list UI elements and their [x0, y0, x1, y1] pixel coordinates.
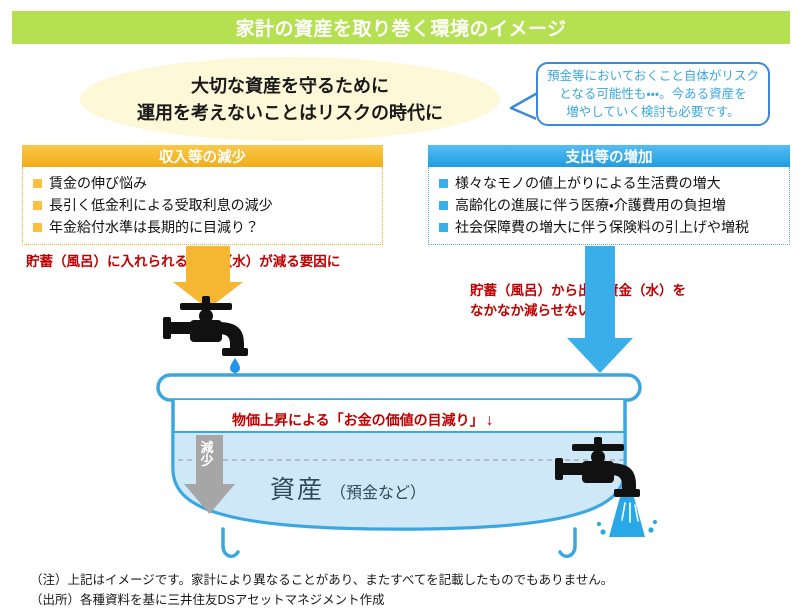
square-bullet-icon: [33, 201, 42, 210]
square-bullet-icon: [439, 223, 448, 232]
square-bullet-icon: [439, 201, 448, 210]
expense-increase-caption: 貯蓄（風呂）から出る資金（水）を なかなか減らせない: [470, 281, 686, 320]
expense-increase-list: 様々なモノの値上がりによる生活費の増大 高齢化の進展に伴う医療・介護費用の負担増…: [428, 167, 790, 245]
faucet-left-icon: [163, 296, 248, 356]
callout-line-2: となる可能性も・・・。今ある資産を: [559, 85, 746, 103]
expense-increase-caption-line-2: なかなか減らせない: [470, 301, 686, 321]
hero-line-2: 運用を考えないことはリスクの時代に: [137, 100, 443, 127]
footer-source: （出所）各種資料を基に三井住友DSアセットマネジメント作成: [30, 590, 613, 610]
list-item: 年金給付水準は長期的に目減り？: [23, 216, 382, 238]
hero-line-1: 大切な資産を守るために: [191, 73, 389, 100]
page-title-bar: 家計の資産を取り巻く環境のイメージ: [12, 11, 790, 44]
list-item-label: 長引く低金利による受取利息の減少: [49, 195, 273, 215]
water-stream-icon: [597, 497, 657, 537]
assets-label: 資産 （預金など）: [270, 470, 426, 506]
inflation-note: 物価上昇による「お金の価値の目減り」↓: [232, 410, 494, 430]
callout-line-3: 増やしていく検討も必要です。: [566, 103, 739, 121]
list-item: 社会保障費の増大に伴う保険料の引上げや増税: [429, 216, 789, 238]
list-item-label: 社会保障費の増大に伴う保険料の引上げや増税: [455, 217, 749, 237]
infographic-page: 家計の資産を取り巻く環境のイメージ 大切な資産を守るために 運用を考えないことは…: [0, 0, 805, 612]
expense-increase-heading-label: 支出等の増加: [566, 146, 653, 167]
list-item: 長引く低金利による受取利息の減少: [23, 194, 382, 216]
square-bullet-icon: [33, 223, 42, 232]
list-item-label: 様々なモノの値上がりによる生活費の増大: [455, 173, 721, 193]
page-title: 家計の資産を取り巻く環境のイメージ: [235, 14, 566, 41]
income-decrease-list: 賃金の伸び悩み 長引く低金利による受取利息の減少 年金給付水準は長期的に目減り？: [22, 167, 383, 245]
faucet-right-icon: [555, 437, 640, 497]
water-drop-icon: [230, 358, 240, 387]
income-decrease-heading-label: 収入等の減少: [159, 146, 246, 167]
inflation-note-label: 物価上昇による「お金の価値の目減り」: [232, 412, 484, 428]
callout-line-1: 預金等においておくこと自体がリスク: [547, 67, 759, 85]
assets-label-main: 資産: [270, 470, 324, 506]
square-bullet-icon: [33, 179, 42, 188]
square-bullet-icon: [439, 179, 448, 188]
bathtub-graphic: [158, 375, 640, 556]
footer-notes: （注）上記はイメージです。家計により異なることがあり、またすべてを記載したもので…: [30, 570, 613, 610]
hero-ellipse-text: 大切な資産を守るために 運用を考えないことはリスクの時代に: [80, 60, 500, 140]
list-item: 高齢化の進展に伴う医療・介護費用の負担増: [429, 194, 789, 216]
list-item: 賃金の伸び悩み: [23, 172, 382, 194]
assets-label-sub: （預金など）: [330, 479, 426, 503]
income-decrease-caption: 貯蓄（風呂）に入れられる資金 （水）が減る要因に: [26, 252, 340, 272]
expense-increase-heading: 支出等の増加: [428, 145, 790, 167]
list-item: 様々なモノの値上がりによる生活費の増大: [429, 172, 789, 194]
income-decrease-heading: 収入等の減少: [22, 145, 383, 167]
down-arrow-glyph: ↓: [486, 412, 494, 429]
list-item-label: 年金給付水準は長期的に目減り？: [49, 217, 259, 237]
list-item-label: 賃金の伸び悩み: [49, 173, 147, 193]
decrease-arrow-label-char-2: 少: [196, 454, 218, 467]
list-item-label: 高齢化の進展に伴う医療・介護費用の負担増: [455, 195, 726, 215]
decrease-arrow-label: 減 少: [196, 441, 218, 467]
footer-note: （注）上記はイメージです。家計により異なることがあり、またすべてを記載したもので…: [30, 570, 613, 590]
callout-bubble: 預金等においておくこと自体がリスク となる可能性も・・・。今ある資産を 増やして…: [536, 62, 770, 126]
expense-increase-caption-line-1: 貯蓄（風呂）から出る資金（水）を: [470, 281, 686, 301]
